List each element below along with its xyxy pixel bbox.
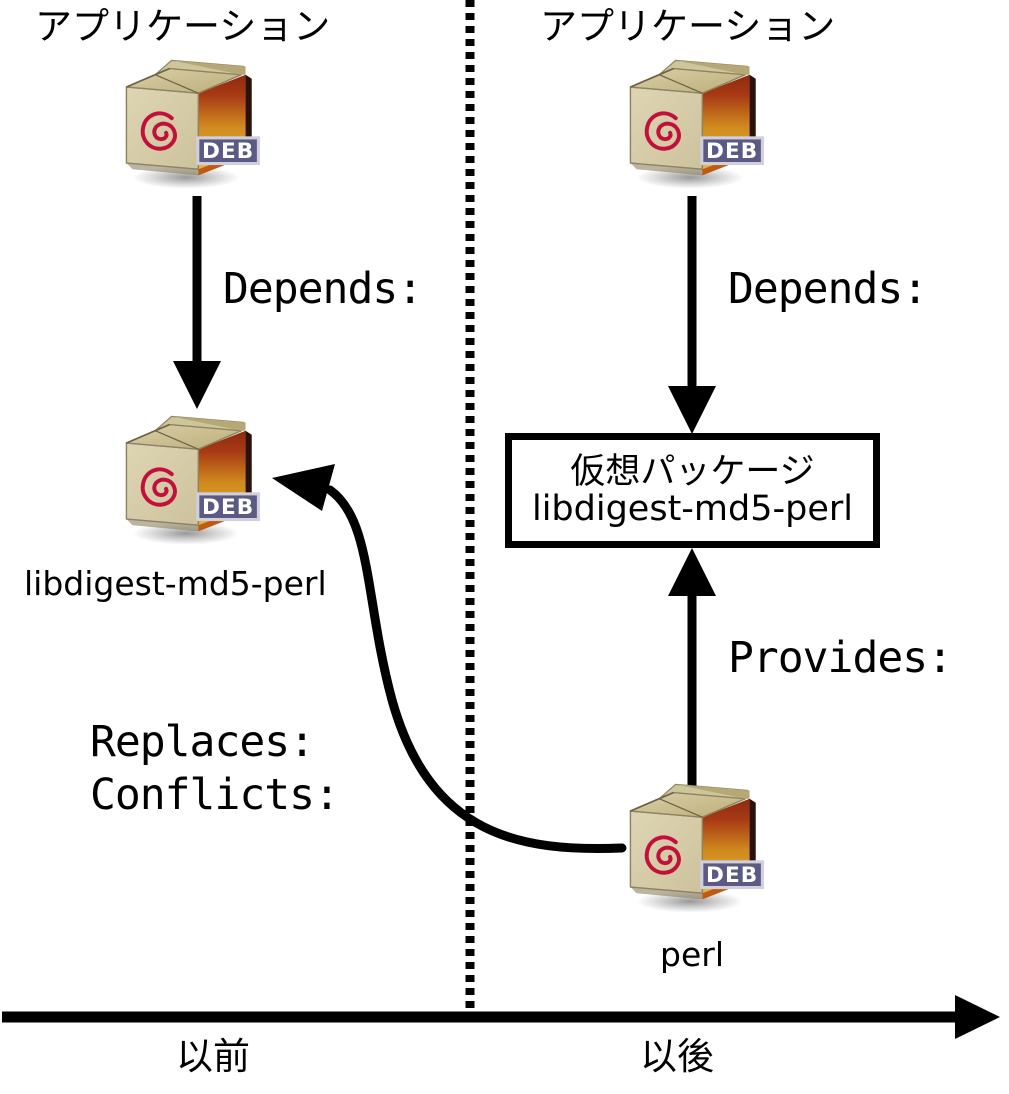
label-depends-left: Depends:	[223, 265, 422, 313]
arrow-depends-left	[173, 196, 221, 409]
package-label-libdigest-md5-perl: libdigest-md5-perl	[24, 567, 327, 600]
label-depends-right: Depends:	[728, 265, 927, 313]
label-replaces: Replaces:	[90, 718, 314, 766]
deb-package-icon-perl	[614, 780, 766, 916]
virtual-package-box: 仮想パッケージ libdigest-md5-perl	[505, 433, 880, 548]
timeline-axis	[2, 995, 1000, 1039]
diagram-canvas: DEB アプリケーション アプリケーション	[0, 0, 1009, 1094]
label-provides: Provides:	[728, 634, 952, 682]
virtual-package-name: libdigest-md5-perl	[532, 491, 853, 528]
virtual-package-title: 仮想パッケージ	[570, 454, 814, 491]
label-conflicts: Conflicts:	[90, 771, 339, 819]
arrow-provides	[668, 548, 716, 790]
package-label-perl: perl	[660, 938, 724, 971]
timeline-label-after: 以後	[640, 1038, 714, 1075]
arrow-depends-right	[668, 196, 716, 434]
timeline-label-before: 以前	[176, 1038, 250, 1075]
deb-package-icon-libdigest	[110, 412, 262, 548]
